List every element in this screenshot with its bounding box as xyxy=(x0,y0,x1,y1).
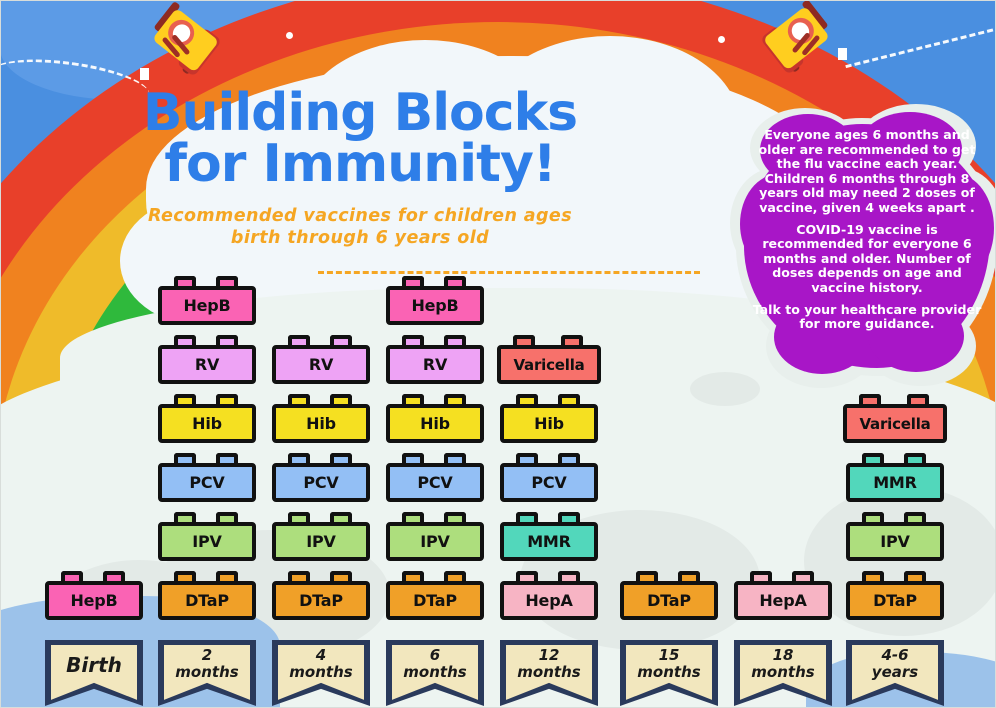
vaccine-label: HepB xyxy=(183,296,230,315)
block-body: IPV xyxy=(272,522,370,561)
vaccine-block-dtap: DTaP xyxy=(386,571,484,620)
vaccine-block-hepa: HepA xyxy=(500,571,598,620)
age-tag-line1: 2 xyxy=(158,647,256,664)
vaccine-label: Hib xyxy=(420,414,450,433)
block-body: MMR xyxy=(846,463,944,502)
vaccine-block-dtap: DTaP xyxy=(272,571,370,620)
subtitle-line1: Recommended vaccines for children ages xyxy=(0,205,720,227)
page-title-line2: for Immunity! xyxy=(0,139,720,190)
block-body: IPV xyxy=(158,522,256,561)
age-tag: 4-6years xyxy=(846,640,944,706)
vaccine-block-rv: RV xyxy=(158,335,256,384)
age-tag-text: 4months xyxy=(272,647,370,682)
vaccine-block-dtap: DTaP xyxy=(846,571,944,620)
vaccine-label: DTaP xyxy=(299,591,343,610)
vaccine-label: DTaP xyxy=(185,591,229,610)
block-body: PCV xyxy=(386,463,484,502)
age-tag-line2: months xyxy=(386,664,484,681)
vaccine-block-hib: Hib xyxy=(500,394,598,443)
block-body: DTaP xyxy=(158,581,256,620)
callout-paragraph-1: Everyone ages 6 months and older are rec… xyxy=(748,128,986,216)
block-body: DTaP xyxy=(386,581,484,620)
age-tag: 18months xyxy=(734,640,832,706)
title-block: Building Blocks for Immunity! Recommende… xyxy=(0,88,720,250)
vaccine-block-pcv: PCV xyxy=(386,453,484,502)
block-body: Varicella xyxy=(843,404,947,443)
vaccine-label: MMR xyxy=(873,473,917,492)
vaccine-label: PCV xyxy=(303,473,338,492)
age-tag-line2: months xyxy=(158,664,256,681)
age-tag: 6months xyxy=(386,640,484,706)
age-tag: Birth xyxy=(45,640,143,706)
age-tag-line2: months xyxy=(500,664,598,681)
block-body: DTaP xyxy=(846,581,944,620)
block-body: Hib xyxy=(500,404,598,443)
age-tag: 2months xyxy=(158,640,256,706)
age-tag-text: 15months xyxy=(620,647,718,682)
vaccine-label: HepA xyxy=(525,591,572,610)
vaccine-label: PCV xyxy=(189,473,224,492)
age-tag-line1: 12 xyxy=(500,647,598,664)
vaccine-label: IPV xyxy=(192,532,221,551)
age-tag: 15months xyxy=(620,640,718,706)
vaccine-label: IPV xyxy=(420,532,449,551)
age-tag-text: 18months xyxy=(734,647,832,682)
block-body: RV xyxy=(386,345,484,384)
block-body: IPV xyxy=(846,522,944,561)
block-body: HepB xyxy=(158,286,256,325)
vaccine-block-varicella: Varicella xyxy=(843,394,947,443)
vaccine-block-ipv: IPV xyxy=(272,512,370,561)
vaccine-label: HepB xyxy=(70,591,117,610)
age-tag-line2: months xyxy=(620,664,718,681)
vaccine-block-hib: Hib xyxy=(158,394,256,443)
vaccine-block-hepb: HepB xyxy=(386,276,484,325)
callout-paragraph-3: Talk to your healthcare provider for mor… xyxy=(748,303,986,332)
vaccine-label: HepA xyxy=(759,591,806,610)
block-body: HepB xyxy=(45,581,143,620)
vaccine-block-hib: Hib xyxy=(386,394,484,443)
block-body: DTaP xyxy=(272,581,370,620)
trail-arrow-left xyxy=(140,68,149,80)
vaccine-label: Hib xyxy=(534,414,564,433)
vaccine-label: RV xyxy=(195,355,219,374)
page-title-line1: Building Blocks xyxy=(0,88,720,139)
block-body: PCV xyxy=(272,463,370,502)
vaccine-label: RV xyxy=(423,355,447,374)
vaccine-block-ipv: IPV xyxy=(158,512,256,561)
age-tag-line1: 6 xyxy=(386,647,484,664)
vaccine-block-dtap: DTaP xyxy=(620,571,718,620)
block-body: PCV xyxy=(500,463,598,502)
age-tag-line1: 15 xyxy=(620,647,718,664)
vaccine-label: Varicella xyxy=(859,415,930,433)
vaccine-label: IPV xyxy=(880,532,909,551)
block-body: MMR xyxy=(500,522,598,561)
age-tag-text: 6months xyxy=(386,647,484,682)
vaccine-label: HepB xyxy=(411,296,458,315)
divider-dashed xyxy=(318,271,700,274)
flu-covid-callout: Everyone ages 6 months and older are rec… xyxy=(736,108,996,386)
age-tag-line2: months xyxy=(734,664,832,681)
subtitle-line2: birth through 6 years old xyxy=(0,227,720,249)
age-tag-line1: 4-6 xyxy=(846,647,944,664)
block-body: HepA xyxy=(500,581,598,620)
vaccine-block-hepb: HepB xyxy=(45,571,143,620)
vaccine-label: Varicella xyxy=(513,356,584,374)
vaccine-label: Hib xyxy=(192,414,222,433)
block-body: DTaP xyxy=(620,581,718,620)
block-body: Varicella xyxy=(497,345,601,384)
vaccine-block-dtap: DTaP xyxy=(158,571,256,620)
poster-canvas: Building Blocks for Immunity! Recommende… xyxy=(0,0,996,708)
age-tag-text: 4-6years xyxy=(846,647,944,682)
vaccine-block-rv: RV xyxy=(386,335,484,384)
vaccine-label: DTaP xyxy=(413,591,457,610)
vaccine-block-mmr: MMR xyxy=(846,453,944,502)
vaccine-block-pcv: PCV xyxy=(272,453,370,502)
sparkle-dot xyxy=(718,36,725,43)
block-body: RV xyxy=(158,345,256,384)
vaccine-block-varicella: Varicella xyxy=(497,335,601,384)
vaccine-block-pcv: PCV xyxy=(500,453,598,502)
callout-paragraph-2: COVID-19 vaccine is recommended for ever… xyxy=(748,223,986,296)
age-tag-text: 2months xyxy=(158,647,256,682)
vaccine-block-hepa: HepA xyxy=(734,571,832,620)
age-tag-line2: months xyxy=(272,664,370,681)
age-tag-line1: 4 xyxy=(272,647,370,664)
block-body: PCV xyxy=(158,463,256,502)
vaccine-label: DTaP xyxy=(647,591,691,610)
age-tag-text: 12months xyxy=(500,647,598,682)
block-body: HepB xyxy=(386,286,484,325)
vaccine-block-pcv: PCV xyxy=(158,453,256,502)
vaccine-block-ipv: IPV xyxy=(386,512,484,561)
vaccine-label: Hib xyxy=(306,414,336,433)
block-body: HepA xyxy=(734,581,832,620)
block-body: Hib xyxy=(272,404,370,443)
vaccine-label: PCV xyxy=(531,473,566,492)
vaccine-block-ipv: IPV xyxy=(846,512,944,561)
age-tag: 4months xyxy=(272,640,370,706)
block-body: IPV xyxy=(386,522,484,561)
age-tag-line2: years xyxy=(846,664,944,681)
vaccine-block-mmr: MMR xyxy=(500,512,598,561)
block-body: Hib xyxy=(158,404,256,443)
vaccine-label: RV xyxy=(309,355,333,374)
vaccine-block-hepb: HepB xyxy=(158,276,256,325)
vaccine-label: PCV xyxy=(417,473,452,492)
age-tag-text: Birth xyxy=(45,654,143,677)
vaccine-block-hib: Hib xyxy=(272,394,370,443)
block-body: RV xyxy=(272,345,370,384)
vaccine-block-rv: RV xyxy=(272,335,370,384)
age-tag: 12months xyxy=(500,640,598,706)
vaccine-label: IPV xyxy=(306,532,335,551)
block-body: Hib xyxy=(386,404,484,443)
trail-arrow-right xyxy=(838,48,847,60)
age-tag-line1: 18 xyxy=(734,647,832,664)
sparkle-dot xyxy=(286,32,293,39)
vaccine-label: DTaP xyxy=(873,591,917,610)
vaccine-label: MMR xyxy=(527,532,571,551)
